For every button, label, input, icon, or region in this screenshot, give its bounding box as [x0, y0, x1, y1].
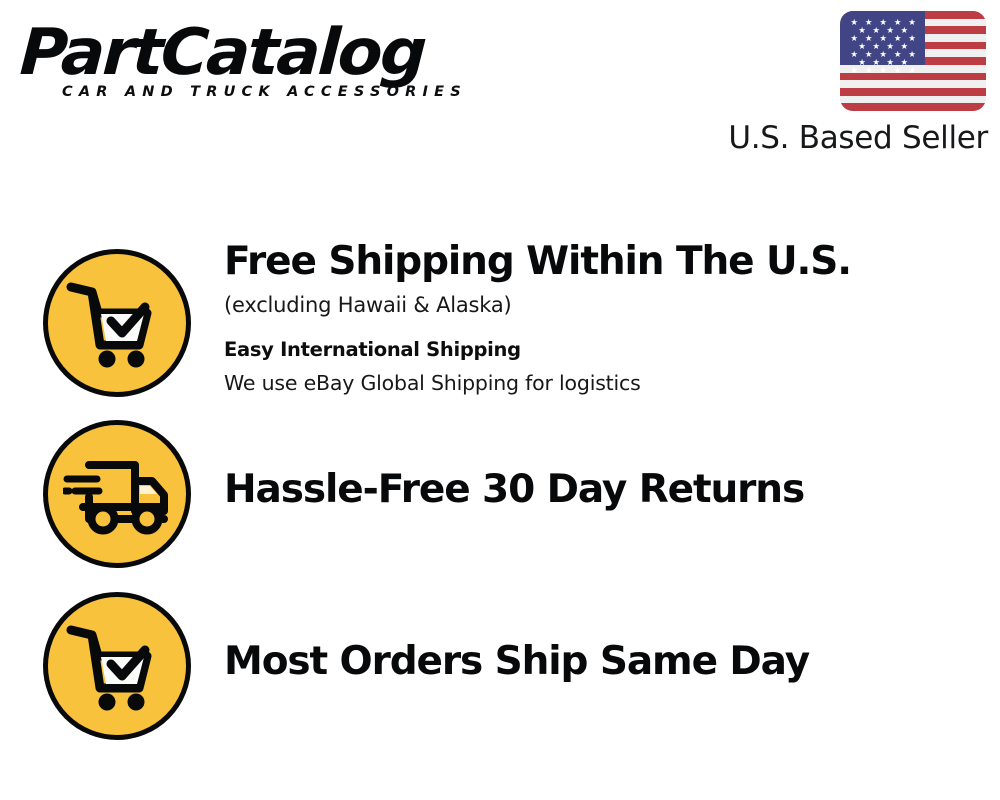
feature-heading: Hassle-Free 30 Day Returns [224, 467, 804, 513]
promo-banner: PartCatalog CAR AND TRUCK ACCESSORIES [0, 0, 1000, 800]
us-based-seller-badge: ★★★★★ ★★★★ ★★★★★ ★★★★ ★★★★★ ★★★★ ★★★★★ U… [840, 11, 986, 111]
brand-wordmark: PartCatalog [18, 18, 501, 88]
feature-subtext: (excluding Hawaii & Alaska) [224, 289, 512, 321]
shopping-cart-check-icon [43, 249, 191, 397]
us-based-seller-caption: U.S. Based Seller [720, 119, 988, 157]
feature-heading: Most Orders Ship Same Day [224, 639, 809, 685]
flag-stars: ★★★★★ ★★★★ ★★★★★ ★★★★ ★★★★★ ★★★★ ★★★★★ [840, 11, 925, 65]
flag-canton: ★★★★★ ★★★★ ★★★★★ ★★★★ ★★★★★ ★★★★ ★★★★★ [840, 11, 925, 65]
feature-subheading: Easy International Shipping [224, 334, 521, 365]
delivery-truck-icon [43, 420, 191, 568]
feature-heading: Free Shipping Within The U.S. [224, 239, 851, 285]
feature-note: We use eBay Global Shipping for logistic… [224, 368, 641, 399]
brand-tagline: CAR AND TRUCK ACCESSORIES [62, 84, 467, 100]
shopping-cart-check-icon [43, 592, 191, 740]
us-flag-icon: ★★★★★ ★★★★ ★★★★★ ★★★★ ★★★★★ ★★★★ ★★★★★ [840, 11, 986, 111]
